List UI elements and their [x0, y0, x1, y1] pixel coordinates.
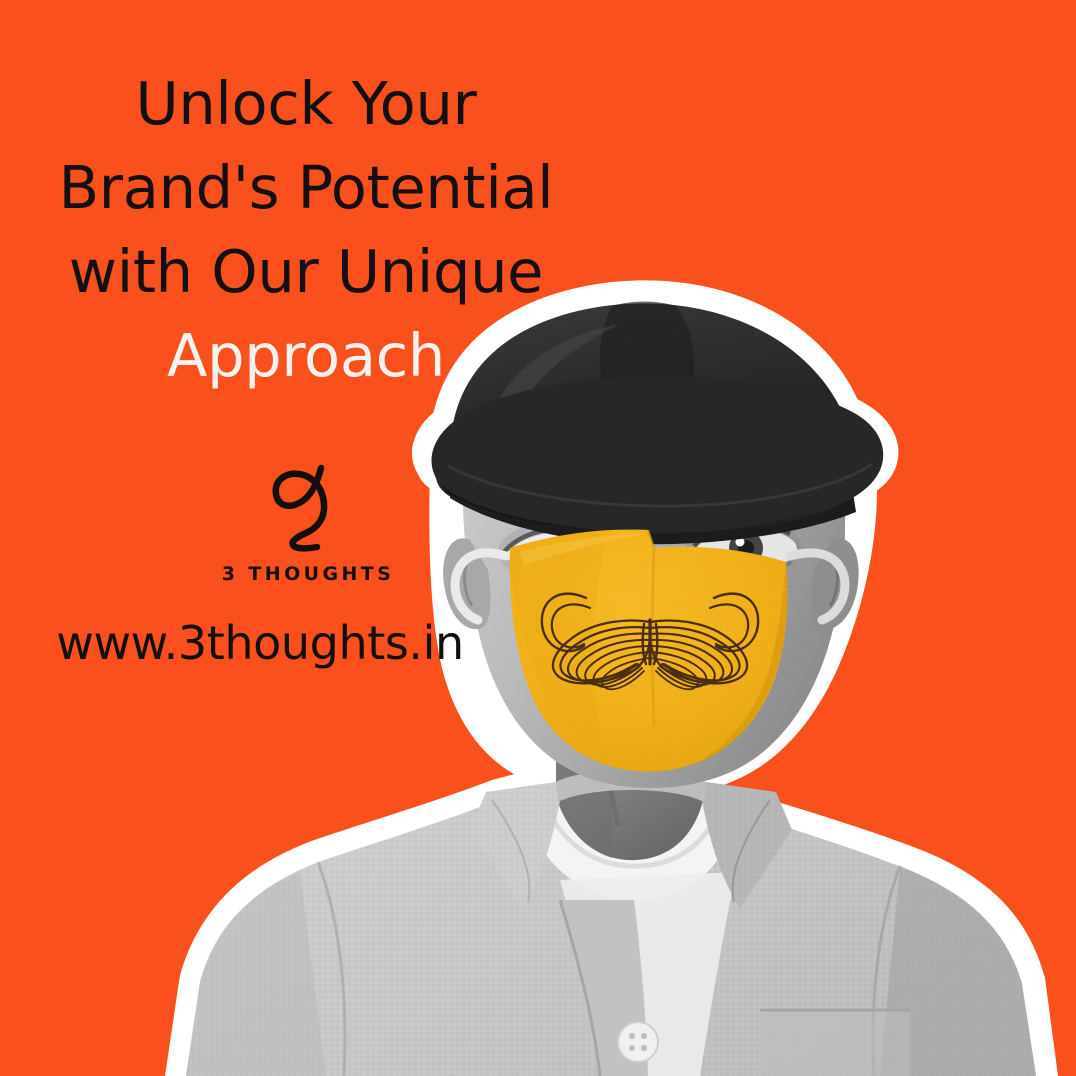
website-url[interactable]: www.3thoughts.in	[0, 612, 520, 674]
shirt-button	[618, 1022, 658, 1062]
brand-logo-lockup[interactable]: 3 THOUGHTS	[188, 462, 428, 585]
man-cutout-figure	[0, 0, 1076, 1076]
logo-wordmark: 3 THOUGHTS	[188, 563, 428, 585]
three-thoughts-loop-icon	[269, 462, 347, 554]
poster-canvas: Unlock Your Brand's Potential with Our U…	[0, 0, 1076, 1076]
